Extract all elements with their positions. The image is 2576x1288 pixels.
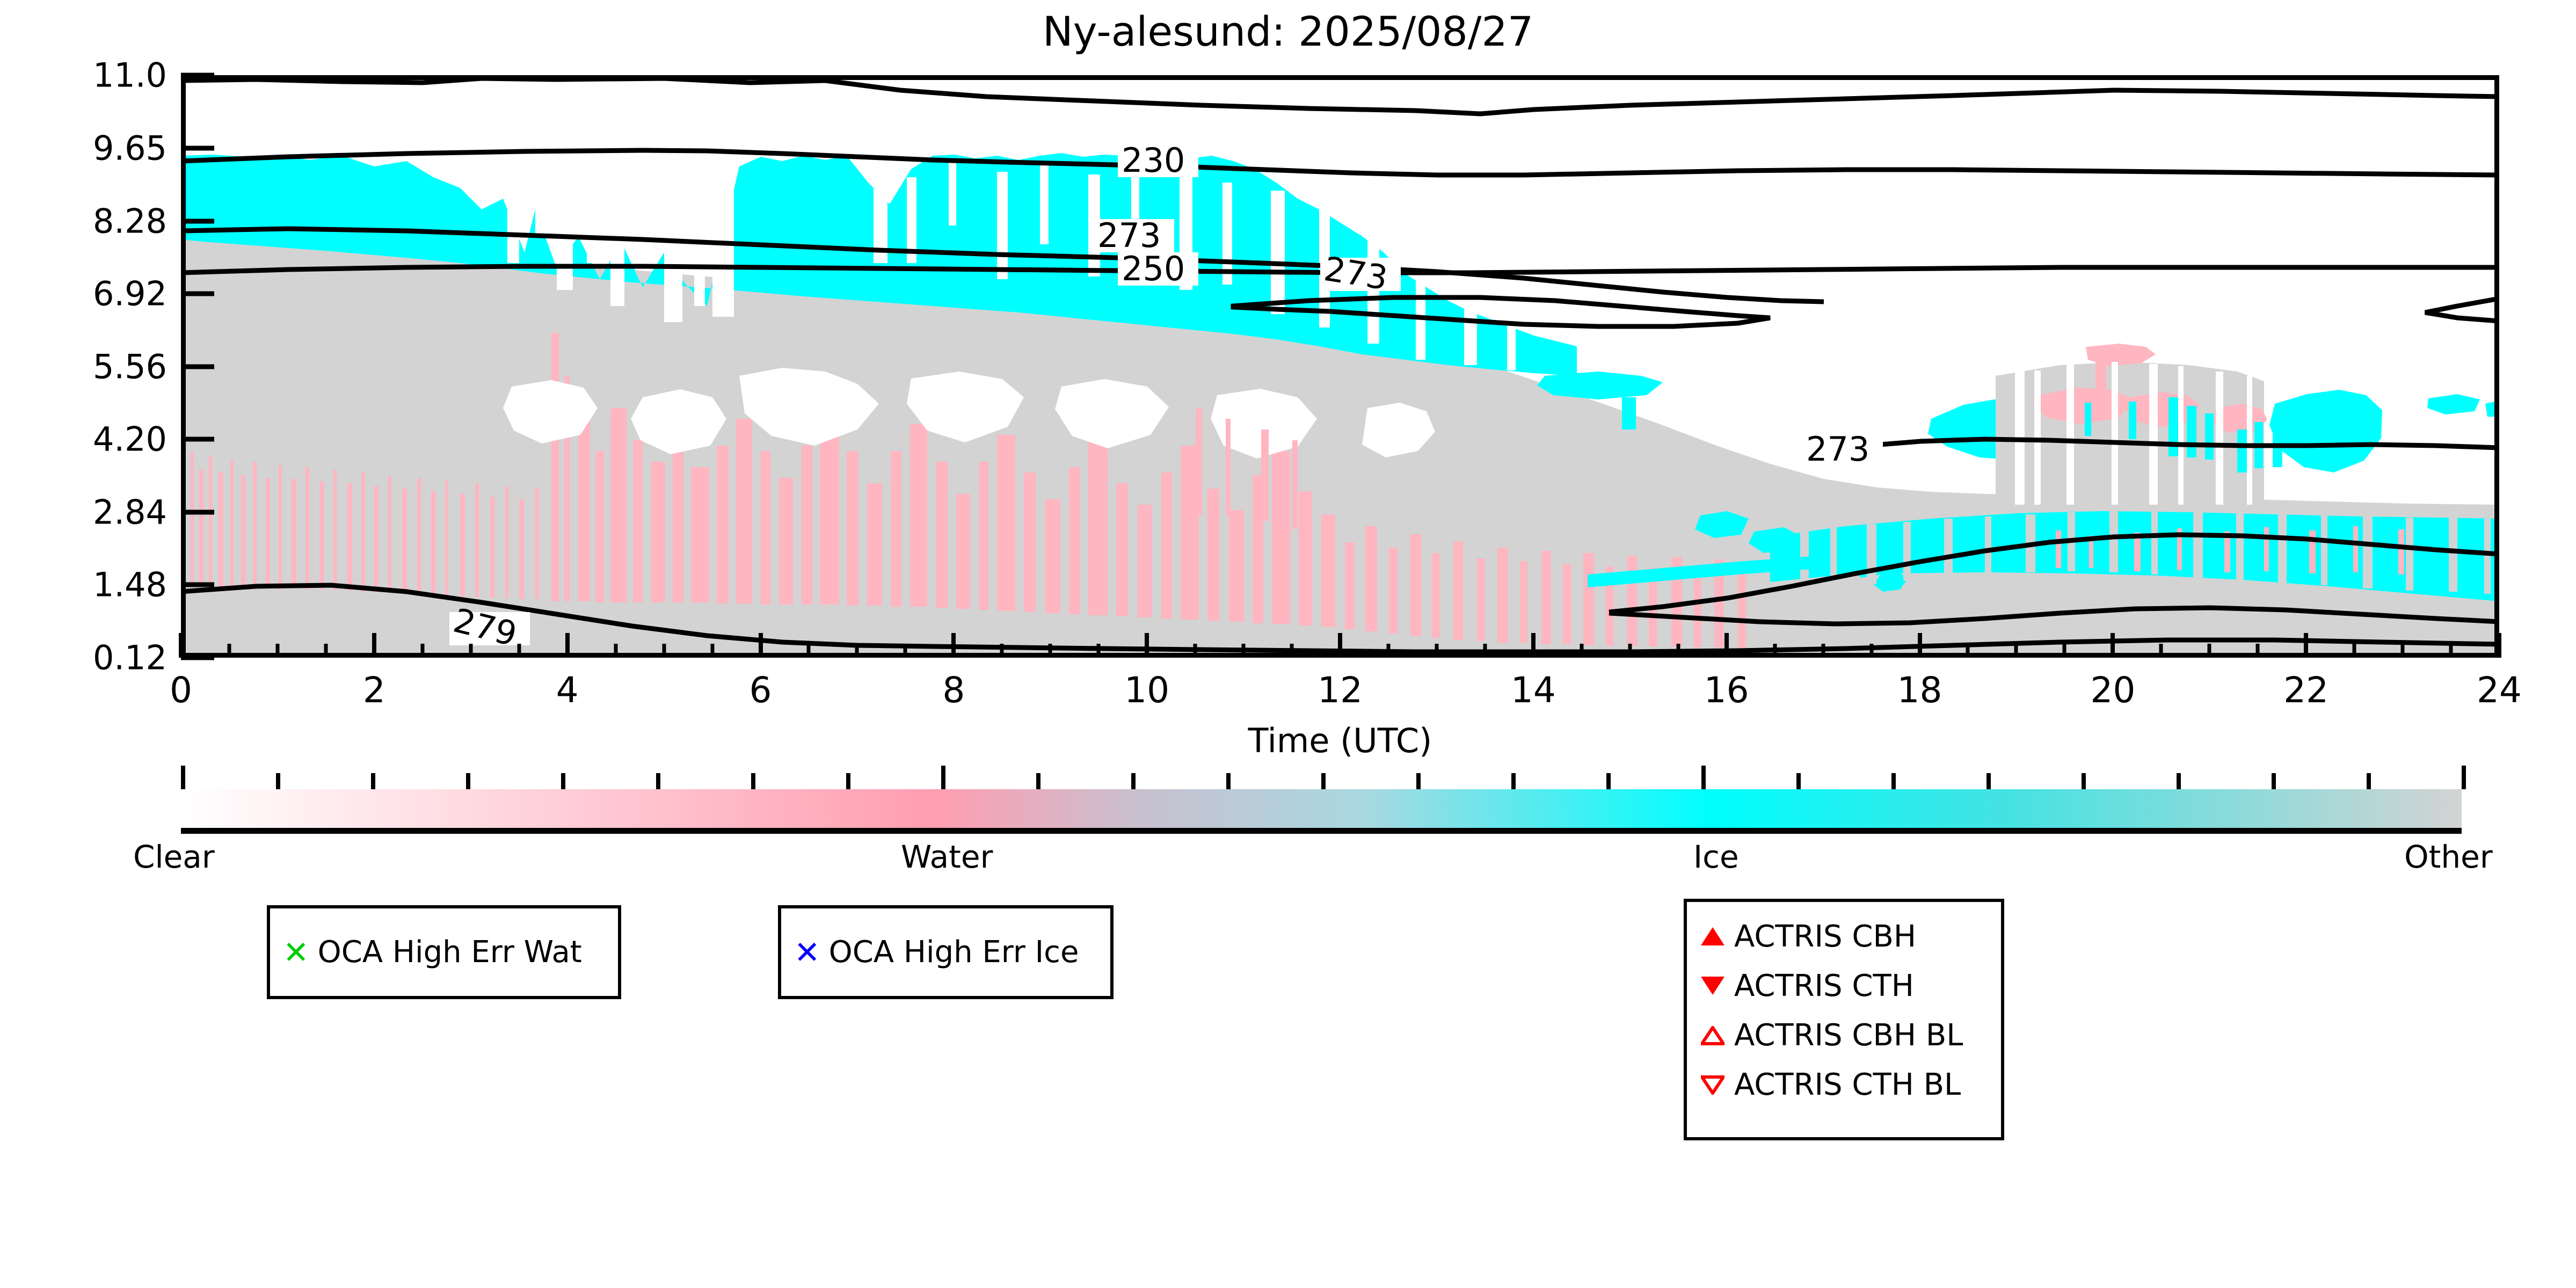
x-tick-major xyxy=(565,633,570,658)
x-tick-label: 14 xyxy=(1511,670,1556,711)
x-tick-minor xyxy=(1290,644,1294,658)
y-tick-label: 2.84 xyxy=(93,493,167,532)
colorbar-tick-minor xyxy=(466,773,470,789)
x-tick-major xyxy=(179,633,183,658)
x-tick-label: 24 xyxy=(2477,670,2522,711)
legend-label: ACTRIS CBH BL xyxy=(1734,1018,1963,1053)
legend-label: ACTRIS CBH xyxy=(1734,919,1916,954)
x-tick-minor xyxy=(275,644,279,658)
x-tick-label: 2 xyxy=(363,670,385,711)
colorbar-tick-minor xyxy=(2177,773,2181,789)
ice-patches-22-24h xyxy=(2427,394,2499,417)
mixed-column-region-18-20h xyxy=(1996,344,2282,505)
x-tick-minor xyxy=(324,644,328,658)
x-tick-minor xyxy=(2256,644,2260,658)
x-tick-minor xyxy=(904,644,907,658)
colorbar-tick-minor xyxy=(1321,773,1326,789)
x-tick-minor xyxy=(2063,644,2066,658)
y-tick-label: 0.12 xyxy=(93,638,167,678)
x-marker-blue-icon: ✕ xyxy=(794,937,820,968)
colorbar-tick-minor xyxy=(2082,773,2086,789)
colorbar-tick-minor xyxy=(1511,773,1516,789)
colorbar-label-ice: Ice xyxy=(1693,839,1739,875)
x-tick-minor xyxy=(614,644,617,658)
colorbar-tick-minor xyxy=(1416,773,1421,789)
colorbar-gradient xyxy=(181,789,2462,828)
svg-text:230: 230 xyxy=(1122,141,1185,180)
x-tick-label: 4 xyxy=(556,670,579,711)
x-tick-major xyxy=(2304,633,2308,658)
x-tick-minor xyxy=(662,644,666,658)
x-tick-minor xyxy=(1386,644,1390,658)
plot-clip: 230 250 273 273 273 279 xyxy=(181,75,2499,658)
colorbar-tick-major xyxy=(181,766,185,789)
colorbar-axis xyxy=(181,828,2462,834)
colorbar-tick-minor xyxy=(371,773,375,789)
figure-canvas: Ny-alesund: 2025/08/27 Height AMSL (km) xyxy=(0,0,2576,1288)
x-tick-major xyxy=(372,633,376,658)
x-tick-minor xyxy=(1869,644,1873,658)
x-tick-minor xyxy=(2353,644,2356,658)
x-tick-minor xyxy=(1000,644,1004,658)
x-tick-minor xyxy=(1821,644,1825,658)
svg-text:273: 273 xyxy=(1806,430,1869,469)
svg-text:273: 273 xyxy=(1097,216,1161,255)
legend-oca-high-err-wat[interactable]: ✕ OCA High Err Wat xyxy=(267,905,621,999)
legend-actris[interactable]: ACTRIS CBH ACTRIS CTH ACTRIS CBH BL ACTR… xyxy=(1684,899,2004,1140)
x-tick-minor xyxy=(2014,644,2018,658)
x-tick-minor xyxy=(1676,644,1680,658)
legend-label: OCA High Err Wat xyxy=(318,935,582,970)
x-tick-label: 6 xyxy=(749,670,772,711)
x-tick-label: 16 xyxy=(1704,670,1749,711)
x-tick-major xyxy=(2497,633,2501,658)
colorbar-tick-major xyxy=(1701,766,1706,789)
x-tick-minor xyxy=(2449,644,2453,658)
colorbar-tick-major xyxy=(941,766,945,789)
x-marker-green-icon: ✕ xyxy=(283,937,309,968)
legend-label: ACTRIS CTH xyxy=(1734,969,1914,1003)
colorbar-tick-minor xyxy=(1226,773,1231,789)
colorbar-tick-minor xyxy=(1986,773,1991,789)
y-tick-label: 6.92 xyxy=(93,274,167,314)
x-tick-minor xyxy=(1483,644,1487,658)
y-tick-label: 8.28 xyxy=(93,202,167,241)
x-tick-minor xyxy=(1242,644,1246,658)
colorbar-label-other: Other xyxy=(2404,839,2493,875)
colorbar-tick-minor xyxy=(1131,773,1136,789)
x-tick-label: 10 xyxy=(1124,670,1169,711)
legend-item-actris-cbh[interactable]: ACTRIS CBH xyxy=(1687,912,2001,961)
colorbar-tick-minor xyxy=(276,773,280,789)
triangle-down-open-icon xyxy=(1701,1075,1724,1094)
legend-item-actris-cth[interactable]: ACTRIS CTH xyxy=(1687,961,2001,1010)
x-tick-minor xyxy=(227,644,231,658)
x-tick-major xyxy=(1531,633,1536,658)
x-tick-label: 18 xyxy=(1897,670,1942,711)
colorbar-tick-minor xyxy=(561,773,565,789)
x-tick-minor xyxy=(1435,644,1438,658)
x-tick-minor xyxy=(1773,644,1777,658)
colorbar-tick-minor xyxy=(751,773,755,789)
x-tick-label: 0 xyxy=(170,670,192,711)
y-tick-label: 5.56 xyxy=(93,347,167,387)
x-tick-minor xyxy=(1049,644,1052,658)
x-tick-major xyxy=(1724,633,1729,658)
triangle-down-filled-icon xyxy=(1701,977,1724,995)
x-tick-minor xyxy=(807,644,811,658)
x-axis-label: Time (UTC) xyxy=(181,721,2499,760)
colorbar-label-clear: Clear xyxy=(133,839,215,875)
x-tick-minor xyxy=(855,644,859,658)
x-tick-major xyxy=(1145,633,1149,658)
x-tick-minor xyxy=(420,644,424,658)
colorbar-tick-minor xyxy=(656,773,660,789)
y-tick-label: 1.48 xyxy=(93,565,167,605)
legend-item-actris-cth-bl[interactable]: ACTRIS CTH BL xyxy=(1687,1060,2001,1109)
x-tick-major xyxy=(759,633,763,658)
colorbar-tick-major xyxy=(2462,766,2466,789)
x-tick-label: 12 xyxy=(1318,670,1363,711)
y-tick-label: 9.65 xyxy=(93,129,167,168)
x-tick-minor xyxy=(1194,644,1197,658)
x-tick-label: 8 xyxy=(942,670,965,711)
colorbar-tick-minor xyxy=(1891,773,1896,789)
x-tick-label: 20 xyxy=(2090,670,2135,711)
chart-title: Ny-alesund: 2025/08/27 xyxy=(0,8,2576,55)
x-tick-minor xyxy=(1966,644,1970,658)
x-tick-major xyxy=(1338,633,1342,658)
triangle-up-open-icon xyxy=(1701,1026,1724,1044)
x-tick-minor xyxy=(469,644,472,658)
x-tick-minor xyxy=(1097,644,1101,658)
colorbar[interactable] xyxy=(181,789,2462,828)
triangle-up-filled-icon xyxy=(1701,927,1724,945)
x-tick-major xyxy=(951,633,956,658)
x-tick-minor xyxy=(2159,644,2163,658)
x-tick-major xyxy=(1918,633,1922,658)
legend-label: OCA High Err Ice xyxy=(829,935,1079,970)
ice-plume-20h xyxy=(2269,390,2382,472)
y-tick-label: 4.20 xyxy=(93,420,167,459)
x-tick-minor xyxy=(1628,644,1632,658)
main-plot-area[interactable]: Height AMSL (km) xyxy=(181,75,2499,658)
colorbar-tick-minor xyxy=(2367,773,2371,789)
legend-oca-high-err-ice[interactable]: ✕ OCA High Err Ice xyxy=(778,905,1114,999)
x-tick-label: 22 xyxy=(2283,670,2328,711)
legend-label: ACTRIS CTH BL xyxy=(1734,1067,1961,1102)
x-tick-minor xyxy=(710,644,714,658)
colorbar-tick-minor xyxy=(1796,773,1801,789)
colorbar-tick-minor xyxy=(1606,773,1611,789)
x-tick-minor xyxy=(2401,644,2405,658)
x-tick-minor xyxy=(1580,644,1583,658)
x-tick-minor xyxy=(2208,644,2211,658)
cloud-classification-field: 230 250 273 273 273 279 xyxy=(181,75,2499,658)
colorbar-tick-minor xyxy=(2272,773,2276,789)
x-tick-major xyxy=(2111,633,2115,658)
x-tick-minor xyxy=(517,644,521,658)
colorbar-label-water: Water xyxy=(901,839,993,875)
colorbar-tick-minor xyxy=(1036,773,1040,789)
legend-item-actris-cbh-bl[interactable]: ACTRIS CBH BL xyxy=(1687,1010,2001,1060)
y-tick-label: 11.0 xyxy=(93,56,167,95)
colorbar-tick-minor xyxy=(846,773,850,789)
